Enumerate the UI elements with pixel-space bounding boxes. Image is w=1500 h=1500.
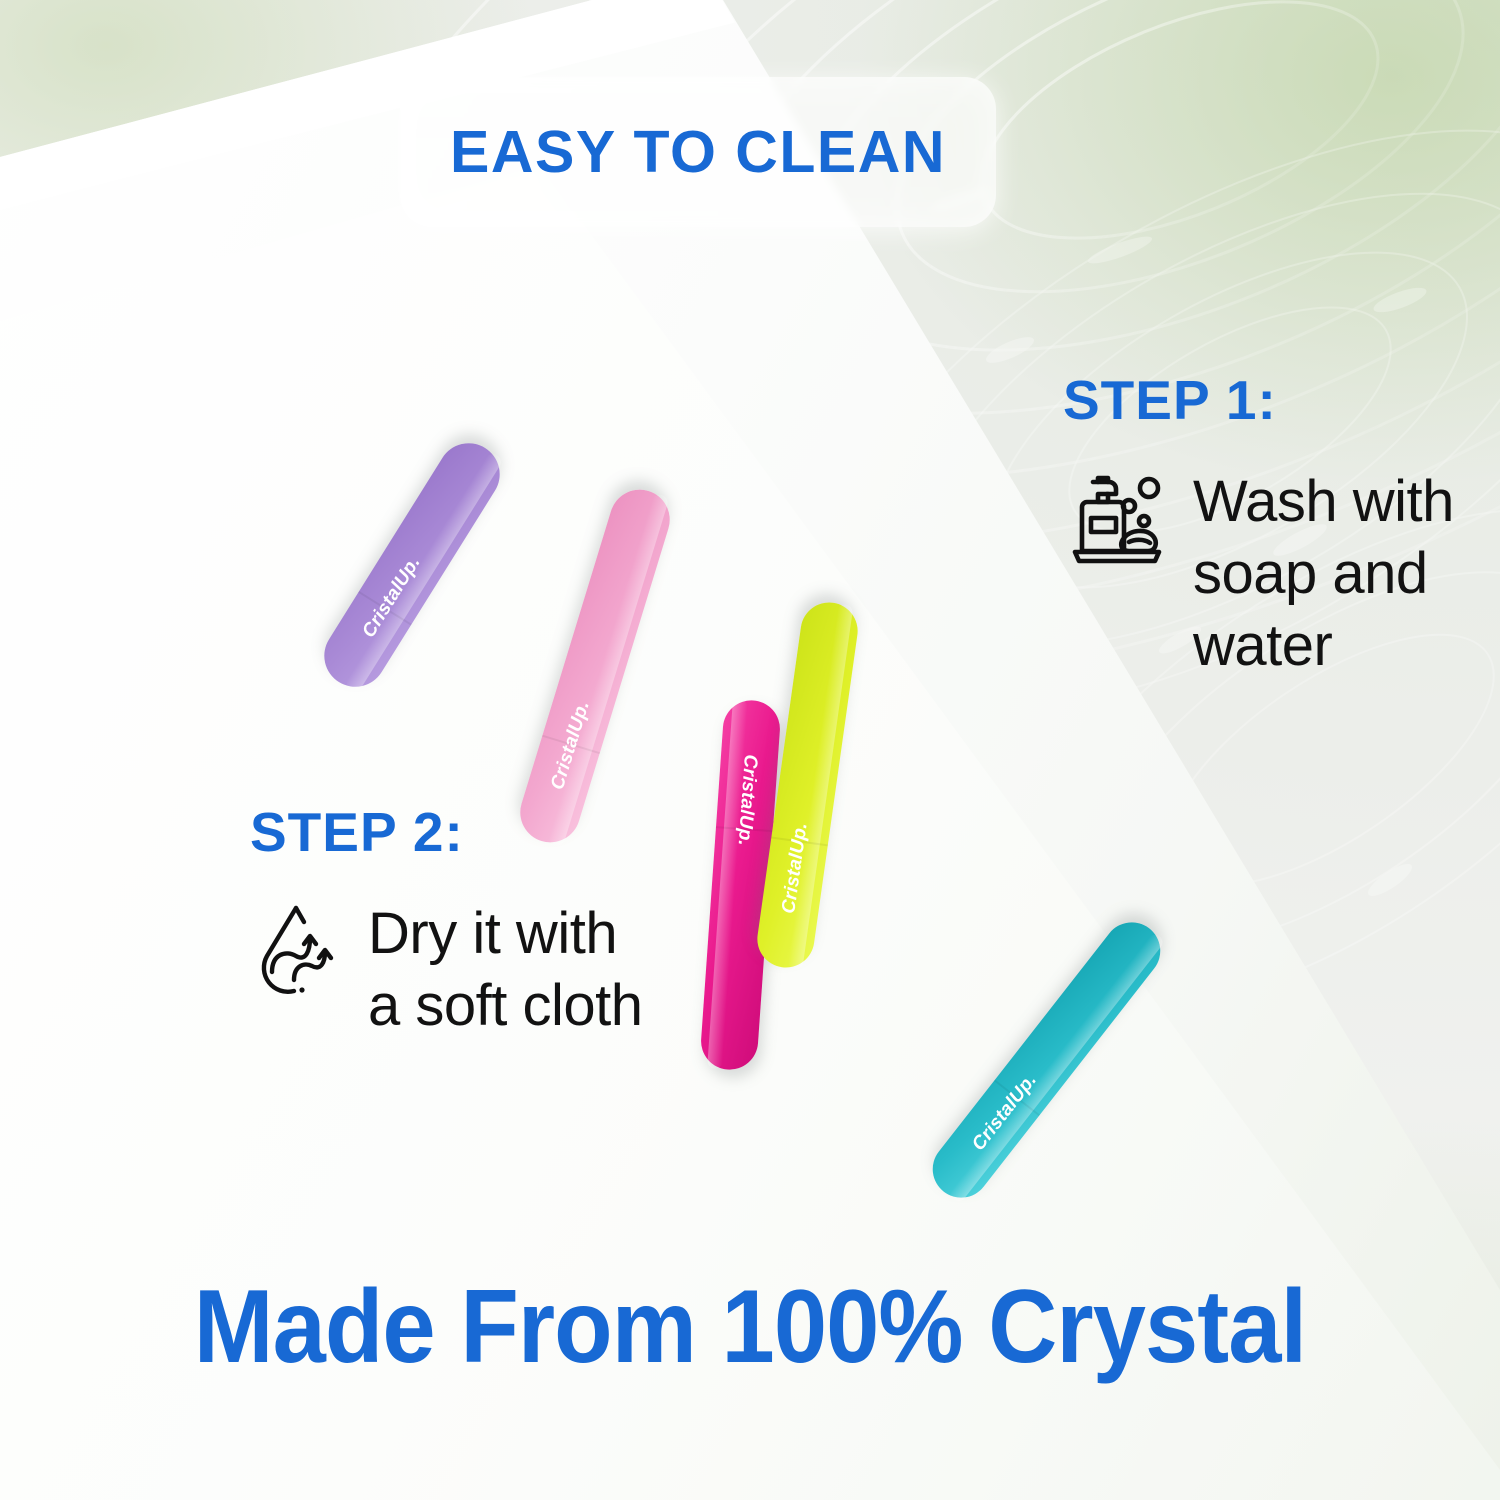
step-1-body: Wash with soap and water (1063, 466, 1454, 682)
step-2-block: STEP 2: Dry it with a soft cloth (250, 800, 642, 1042)
banner-label: EASY TO CLEAN (450, 118, 946, 186)
headline-emphasis: 100% Crystal (722, 1269, 1307, 1385)
brand-wrap-yellow: CristalUp. (780, 812, 811, 925)
step-2-title: STEP 2: (250, 800, 642, 864)
step-2-body: Dry it with a soft cloth (250, 898, 642, 1042)
step-1-text: Wash with soap and water (1193, 466, 1454, 682)
step-2-text: Dry it with a soft cloth (368, 898, 642, 1042)
product-infographic: EASY TO CLEAN CristalUp. CristalUp. Cris… (0, 0, 1500, 1500)
brand-wrap-magenta: CristalUp. (735, 744, 759, 857)
bottom-headline: Made From 100% Crystal (60, 1268, 1440, 1387)
brand-label-magenta: CristalUp. (732, 754, 760, 847)
brand-wrap-pink: CristalUp. (547, 689, 595, 801)
step-1-title: STEP 1: (1063, 368, 1454, 432)
banner-badge: EASY TO CLEAN (400, 77, 996, 227)
headline-prefix: Made From (194, 1269, 722, 1385)
brand-label-pink: CristalUp. (547, 698, 595, 792)
brand-label-yellow: CristalUp. (779, 821, 814, 915)
step-1-block: STEP 1: (1063, 368, 1454, 682)
water-droplet-drying-icon (250, 898, 346, 1009)
soap-dispenser-icon (1063, 466, 1171, 583)
